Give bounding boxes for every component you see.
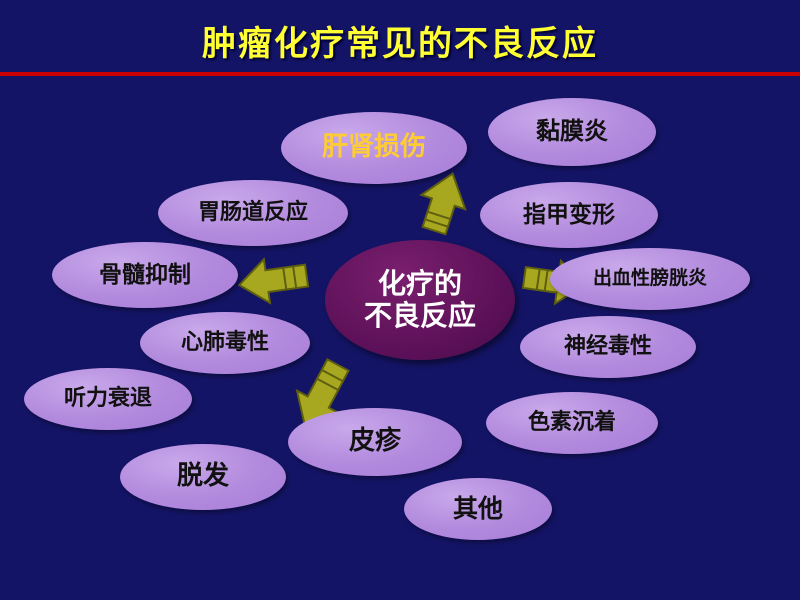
node-hemorrhagic-cystitis-label: 出血性膀胱炎 [593,268,707,290]
node-rash-label: 皮疹 [349,427,401,457]
node-other-label: 其他 [453,495,503,524]
node-liver-kidney-injury-label: 肝肾损伤 [322,133,426,163]
node-nail-deformity[interactable]: 指甲变形 [480,182,658,248]
slide-canvas: 肿瘤化疗常见的不良反应 化疗的 不良反应 [0,0,800,600]
node-neurotoxicity-label: 神经毒性 [564,334,652,359]
node-alopecia[interactable]: 脱发 [120,444,286,510]
node-pigmentation[interactable]: 色素沉着 [486,392,658,454]
node-neurotoxicity[interactable]: 神经毒性 [520,316,696,378]
center-node[interactable]: 化疗的 不良反应 [325,240,515,360]
node-alopecia-label: 脱发 [177,462,229,492]
node-hearing-loss-label: 听力衰退 [64,386,152,411]
center-node-line2: 不良反应 [364,300,476,332]
node-cardiopulmonary-toxicity-label: 心肺毒性 [181,330,269,355]
node-mucositis[interactable]: 黏膜炎 [488,98,656,166]
node-cardiopulmonary-toxicity[interactable]: 心肺毒性 [140,312,310,374]
title-divider [0,72,800,76]
node-liver-kidney-injury[interactable]: 肝肾损伤 [281,112,467,184]
title-band: 肿瘤化疗常见的不良反应 [0,0,800,72]
node-hearing-loss[interactable]: 听力衰退 [24,368,192,430]
node-myelosuppression-label: 骨髓抑制 [99,262,191,288]
node-myelosuppression[interactable]: 骨髓抑制 [52,242,238,308]
node-rash[interactable]: 皮疹 [288,408,462,476]
node-pigmentation-label: 色素沉着 [528,410,616,435]
center-node-line1: 化疗的 [378,268,462,300]
page-title: 肿瘤化疗常见的不良反应 [0,16,800,65]
node-gi-reaction-label: 胃肠道反应 [198,200,308,225]
node-nail-deformity-label: 指甲变形 [523,202,615,228]
node-gi-reaction[interactable]: 胃肠道反应 [158,180,348,246]
arrow-left [235,248,315,314]
node-other[interactable]: 其他 [404,478,552,540]
node-hemorrhagic-cystitis[interactable]: 出血性膀胱炎 [550,248,750,310]
node-mucositis-label: 黏膜炎 [536,118,608,146]
